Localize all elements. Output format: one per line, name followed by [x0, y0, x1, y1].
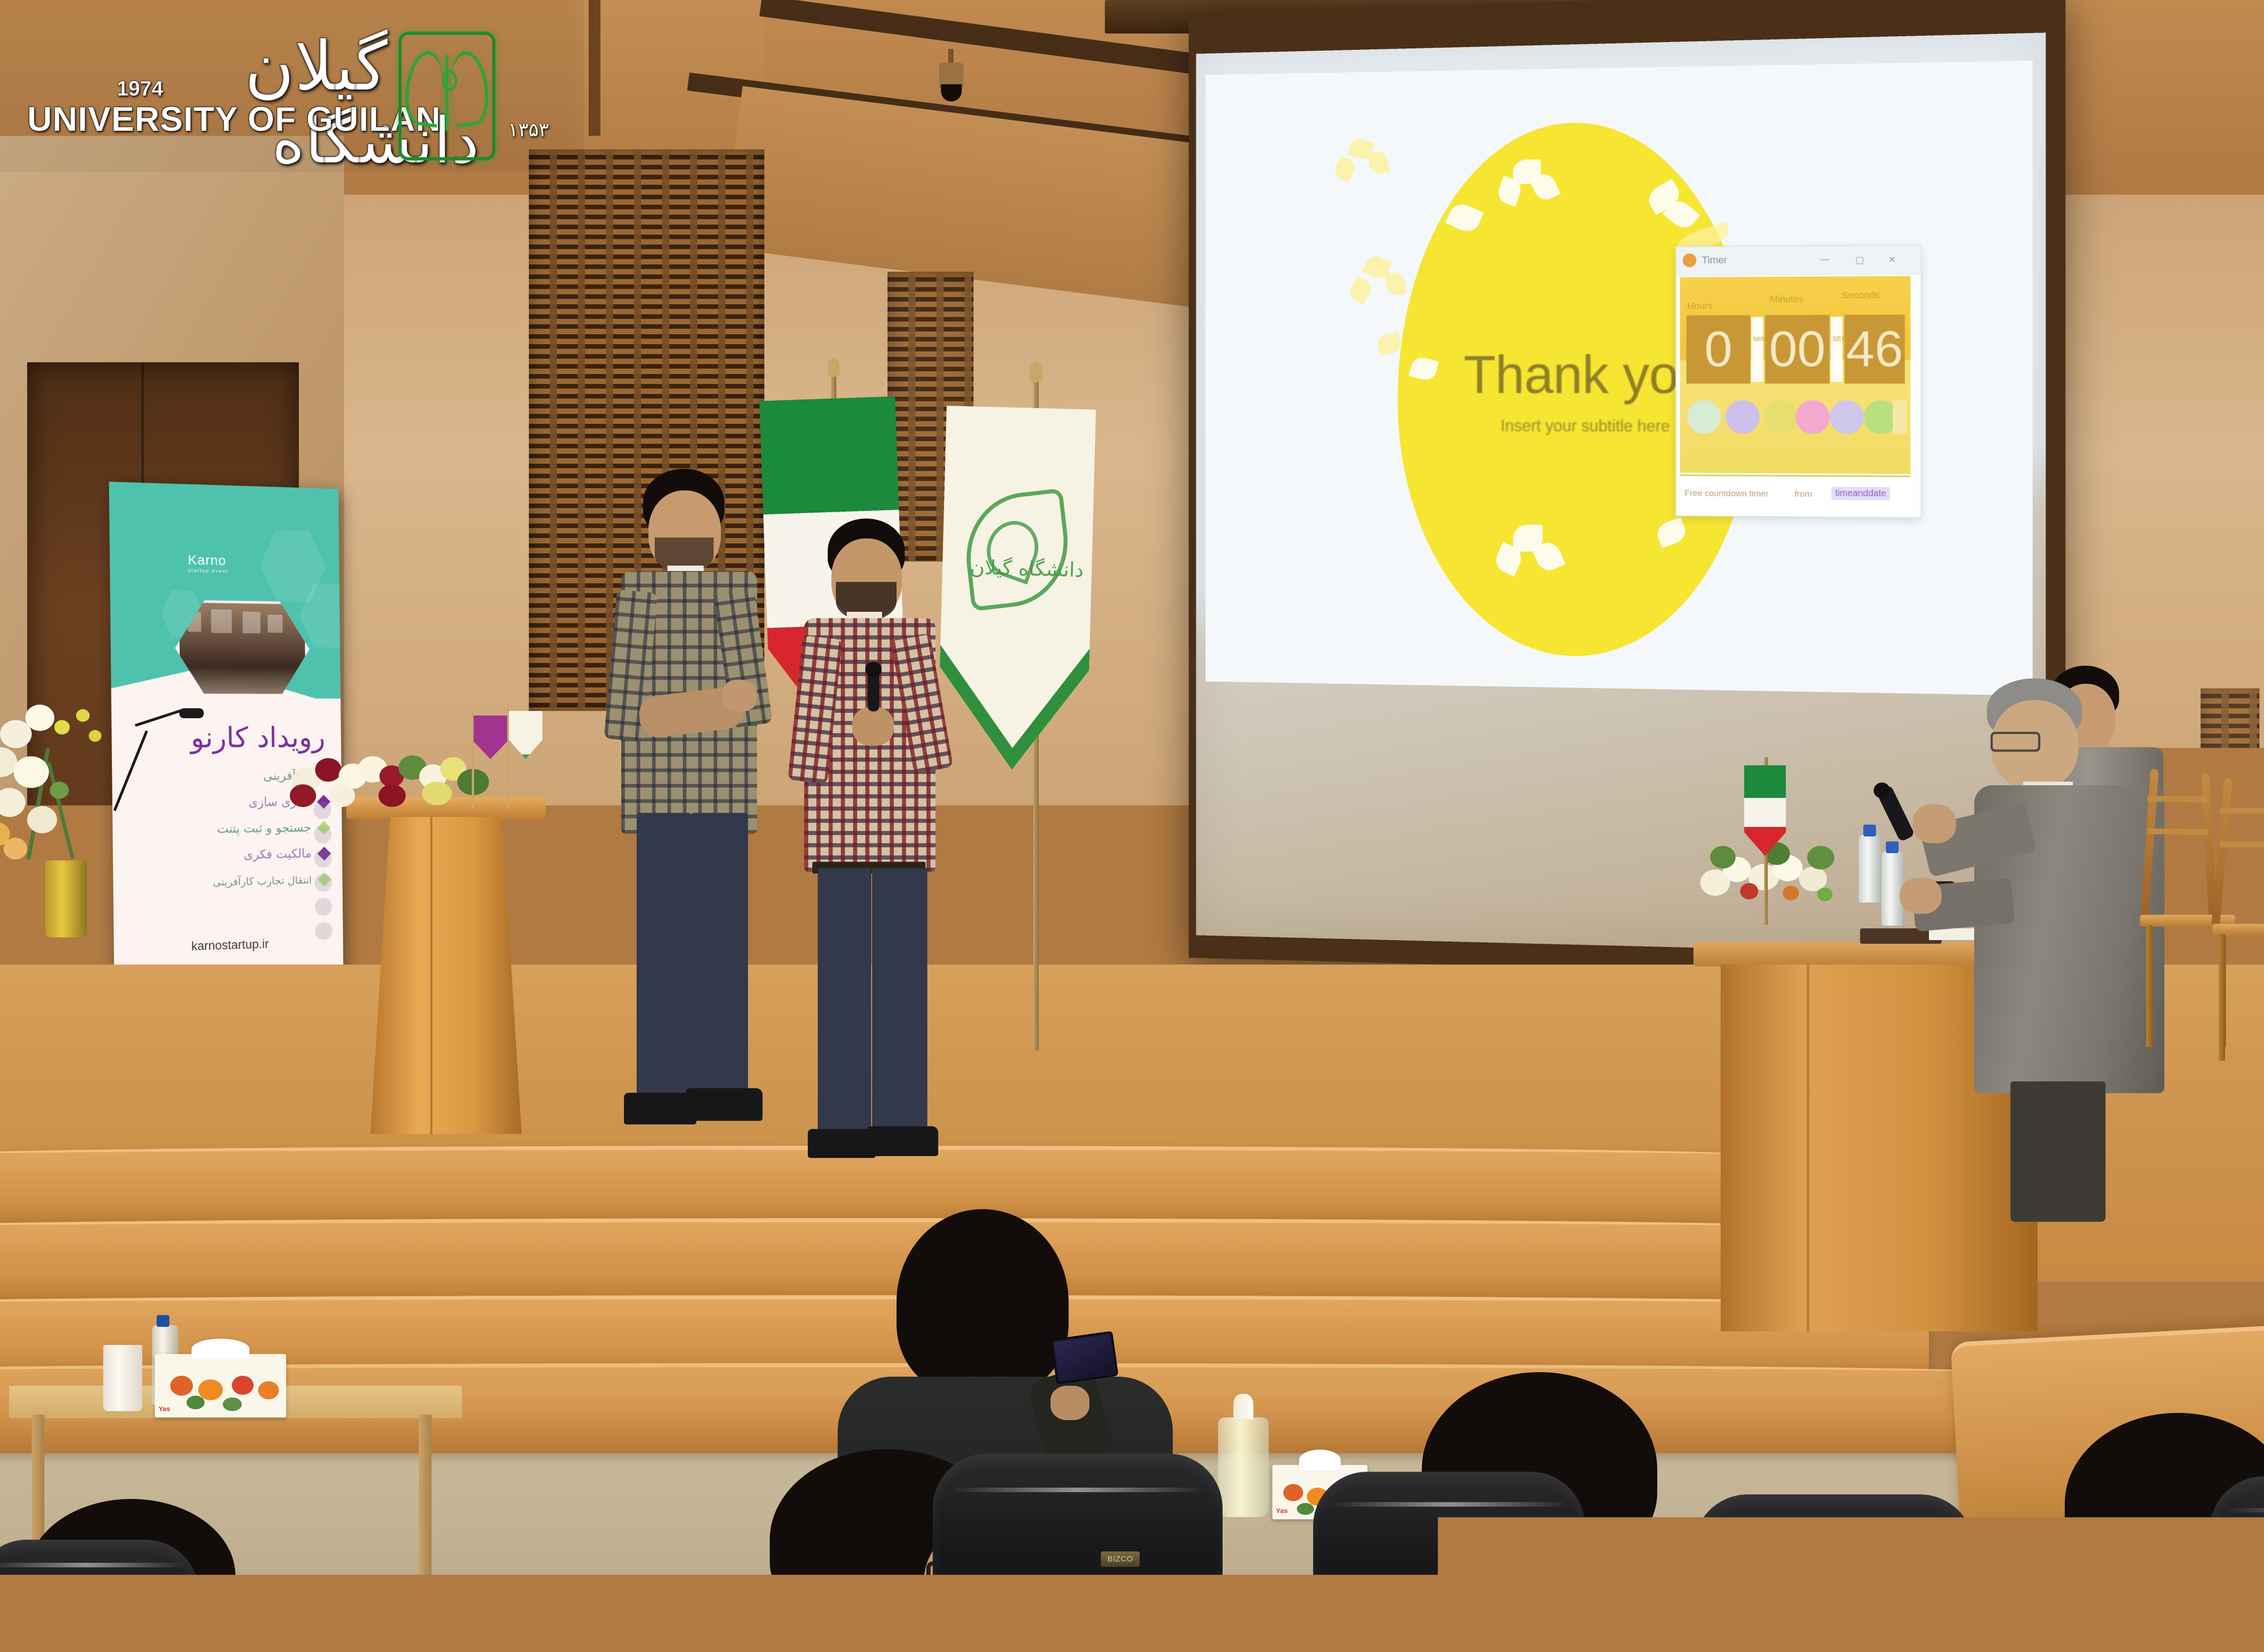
- banner-bullet-label: انتقال تجارب کارآفرینی: [213, 874, 312, 888]
- water-bottle: [1881, 851, 1903, 926]
- podium-flower-garland: [290, 743, 489, 806]
- auditorium-seat[interactable]: BIZCO: [1693, 1494, 1974, 1652]
- seat-brand-plate: BIZCO: [1856, 1578, 1895, 1593]
- hair: [897, 1209, 1069, 1395]
- podium-microphone-icon: [179, 708, 204, 718]
- flag-finial-icon: [1030, 361, 1042, 382]
- tissue-sheet-icon: [192, 1339, 249, 1359]
- shoe-right: [867, 1126, 938, 1156]
- hand: [723, 680, 757, 711]
- reset-button[interactable]: [1764, 400, 1798, 434]
- phone-screen: [1054, 1335, 1115, 1381]
- timer-separator-1: MINS: [1751, 317, 1763, 382]
- petal-icon: [1346, 275, 1374, 305]
- timer-value-seconds: 46: [1844, 315, 1905, 384]
- sponsor-logo-icon: [314, 850, 332, 868]
- paper-cup: [103, 1345, 142, 1411]
- timer-display-panel: Hours Minutes Seconds 0 MINS 00 SECS 46: [1680, 276, 1910, 474]
- banner-bullet-label: جستجو و ثبت پتنت: [217, 821, 311, 836]
- sponsor-logo-icon: [314, 874, 332, 892]
- leg-left: [637, 813, 691, 1103]
- leg-right: [691, 813, 748, 1103]
- tissue-box: Yas: [155, 1354, 286, 1417]
- petal-icon: [1386, 272, 1406, 295]
- banner-bullet-item: مالکیت فکری: [186, 843, 329, 872]
- watermark-year-persian: ۱۳۵۳: [508, 119, 549, 141]
- flower-arrangement-left: [0, 693, 131, 946]
- petal-icon: [1332, 155, 1358, 183]
- auditorium-seat[interactable]: BIZCO: [933, 1454, 1223, 1652]
- projected-slide: Thank you Insert your subtitle here Time…: [1206, 61, 2033, 696]
- pause-button[interactable]: [1726, 400, 1760, 434]
- leg-right: [872, 868, 927, 1140]
- seat-brand-plate: BIZCO: [1101, 1551, 1140, 1567]
- banner-url[interactable]: karnostartup.ir: [114, 935, 343, 956]
- timer-value-hours: 0: [1686, 315, 1750, 384]
- timer-label-hours: Hours: [1687, 301, 1712, 312]
- banner-logo-text: Karno: [188, 552, 226, 568]
- hand: [1050, 1386, 1089, 1420]
- minimize-icon[interactable]: —: [1818, 255, 1831, 265]
- start-button[interactable]: [1687, 400, 1721, 434]
- timer-label-seconds: Seconds: [1842, 290, 1880, 301]
- timer-footer-from: from: [1794, 489, 1812, 499]
- auditorium-photo: Thank you Insert your subtitle here Time…: [0, 0, 2264, 1652]
- presenter-standing-arms-crossed: [598, 469, 788, 1139]
- flag-finial-icon: [828, 358, 839, 377]
- podium: [362, 797, 530, 1141]
- countdown-timer-window[interactable]: Timer — ▢ ✕ Hours Minutes Seconds 0 MINS…: [1675, 245, 1922, 518]
- timer-footer-link[interactable]: timeanddate: [1832, 487, 1890, 500]
- maximize-icon[interactable]: ▢: [1854, 254, 1866, 265]
- auditorium-seat[interactable]: BIZCO: [2210, 1476, 2264, 1652]
- facebook-button[interactable]: [1893, 400, 1907, 434]
- stage-chair[interactable]: [2210, 778, 2264, 1059]
- close-icon[interactable]: ✕: [1886, 254, 1899, 265]
- timer-window-title: Timer: [1702, 254, 1727, 266]
- banner-logo-subtext: startup event: [188, 568, 229, 574]
- timer-value-minutes: 00: [1765, 315, 1830, 384]
- timer-footer: Free countdown timer from timeanddate: [1680, 475, 1910, 514]
- presenter-with-microphone: [788, 519, 969, 1143]
- flower-vase: [45, 860, 87, 937]
- leg: [2010, 1081, 2106, 1222]
- tissue-sheet-icon: [1299, 1450, 1341, 1470]
- shoe-left: [808, 1129, 876, 1158]
- watermark-persian-guilan: گیلان: [245, 27, 388, 106]
- alarm-button[interactable]: [1795, 400, 1829, 434]
- auditorium-seat[interactable]: [1313, 1472, 1585, 1652]
- timer-label-minutes: Minutes: [1770, 294, 1804, 305]
- hand-resting: [1900, 878, 1942, 914]
- hand-holding-mic: [1913, 804, 1956, 843]
- banner-logo: Karno startup event: [188, 552, 229, 574]
- smartphone[interactable]: [1050, 1331, 1119, 1384]
- auditorium-seat[interactable]: [0, 1540, 199, 1652]
- settings-button[interactable]: [1830, 400, 1864, 434]
- hand-holding-mic: [852, 707, 894, 746]
- banner-bullet-item: جستجو و ثبت پتنت: [186, 817, 329, 846]
- timer-favicon-icon: [1683, 254, 1696, 267]
- tissue-brand-label: Yas: [1276, 1507, 1288, 1515]
- guilan-emblem-icon: [398, 32, 495, 160]
- watermark-year-gregorian: 1974: [117, 76, 163, 101]
- petal-icon: [1368, 150, 1390, 175]
- banner-sponsor-logos: [314, 801, 336, 946]
- dome-camera-icon: [936, 49, 965, 103]
- timer-footer-text: Free countdown timer: [1684, 489, 1769, 499]
- timer-separator-2: SECS: [1831, 317, 1843, 382]
- sponsor-logo-icon: [315, 898, 332, 916]
- petal-icon: [1376, 331, 1402, 355]
- handheld-microphone-icon: [868, 668, 879, 711]
- eyeglasses-icon: [1991, 732, 2040, 752]
- university-watermark: گیلان دانشگاه 1974 UNIVERSITY OF GUILAN …: [0, 0, 584, 172]
- banner-bullet-label: مالکیت فکری: [244, 847, 312, 862]
- ceiling-beam-vertical: [589, 0, 600, 136]
- shoe-right: [686, 1088, 763, 1121]
- tissue-brand-label: Yas: [158, 1405, 170, 1413]
- sponsor-logo-icon: [314, 826, 331, 844]
- flag-text: دانشگاه گیلان: [970, 556, 1084, 582]
- water-bottle: [1859, 835, 1880, 903]
- banner-bullet-item: انتقال تجارب کارآفرینی: [187, 869, 330, 898]
- timer-titlebar: Timer — ▢ ✕: [1676, 245, 1921, 276]
- leg-left: [818, 868, 871, 1140]
